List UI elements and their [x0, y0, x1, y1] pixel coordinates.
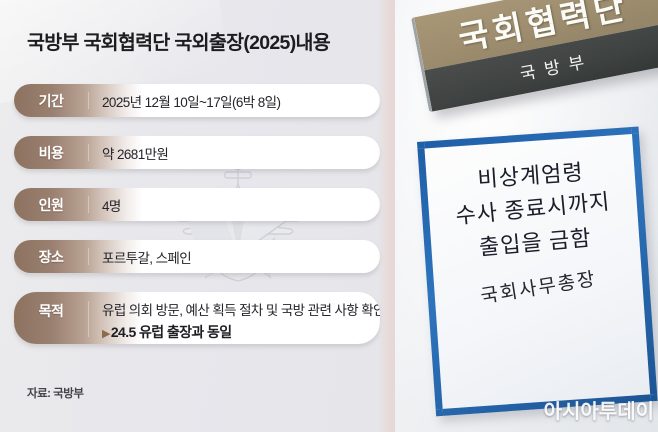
detail-value: 약 2681만원 [102, 143, 168, 163]
detail-label: 장소 [39, 247, 64, 267]
sign-bottom-text: 국방부 [509, 47, 595, 87]
detail-value: 유럽 의회 방문, 예산 획득 절차 및 국방 관련 사항 확인 [102, 303, 380, 318]
detail-subvalue-line: ▶24.5 유럽 출장과 동일 [102, 322, 380, 342]
row-divider [88, 92, 89, 109]
row-divider [88, 248, 89, 265]
detail-row-cost: 비용 약 2681만원 [14, 136, 380, 169]
detail-label-wrap: 기간 [14, 84, 88, 117]
detail-label: 인원 [39, 195, 64, 215]
details-list: 기간 2025년 12월 10일~17일(6박 8일) 비용 약 2681만원 … [14, 84, 380, 363]
notice-signer: 국회사무총장 [441, 258, 635, 315]
detail-row-purpose: 목적 유럽 의회 방문, 예산 획득 절차 및 국방 관련 사항 확인 ▶24.… [14, 292, 380, 344]
detail-label: 기간 [39, 91, 64, 111]
row-divider [88, 144, 89, 161]
source-note: 자료: 국방부 [27, 385, 83, 401]
detail-label-wrap: 인원 [14, 188, 88, 221]
detail-row-period: 기간 2025년 12월 10일~17일(6박 8일) [14, 84, 380, 117]
data-panel: 국방부 국회협력단 국외출장(2025)내용 [0, 0, 400, 432]
detail-row-headcount: 인원 4명 [14, 188, 380, 221]
detail-label-wrap: 목적 [14, 292, 88, 344]
detail-label-wrap: 비용 [14, 136, 88, 169]
access-prohibited-notice: 비상계엄령 수사 종료시까지 출입을 금함 국회사무총장 [417, 127, 658, 417]
detail-value-block: 유럽 의회 방문, 예산 획득 절차 및 국방 관련 사항 확인 ▶24.5 유… [102, 292, 380, 342]
detail-subvalue: 24.5 유럽 출장과 동일 [111, 324, 232, 340]
photo-panel: 국회협력단 국방부 비상계엄령 수사 종료시까지 출입을 금함 국회사무총장 아… [395, 0, 658, 432]
department-sign: 국회협력단 국방부 [411, 0, 658, 112]
detail-value: 4명 [102, 195, 121, 215]
bullet-triangle-icon: ▶ [102, 328, 110, 340]
detail-value: 2025년 12월 10일~17일(6박 8일) [102, 91, 280, 111]
infographic-root: 국방부 국회협력단 국외출장(2025)내용 [0, 0, 658, 432]
detail-row-location: 장소 포르투갈, 스페인 [14, 240, 380, 273]
detail-label: 비용 [39, 143, 64, 163]
page-title: 국방부 국회협력단 국외출장(2025)내용 [27, 26, 330, 55]
detail-label-wrap: 장소 [14, 240, 88, 273]
press-watermark: 아시아투데이 [544, 395, 654, 424]
row-divider [88, 301, 89, 337]
row-divider [88, 196, 89, 213]
detail-value: 포르투갈, 스페인 [102, 247, 191, 267]
detail-label: 목적 [39, 301, 64, 321]
